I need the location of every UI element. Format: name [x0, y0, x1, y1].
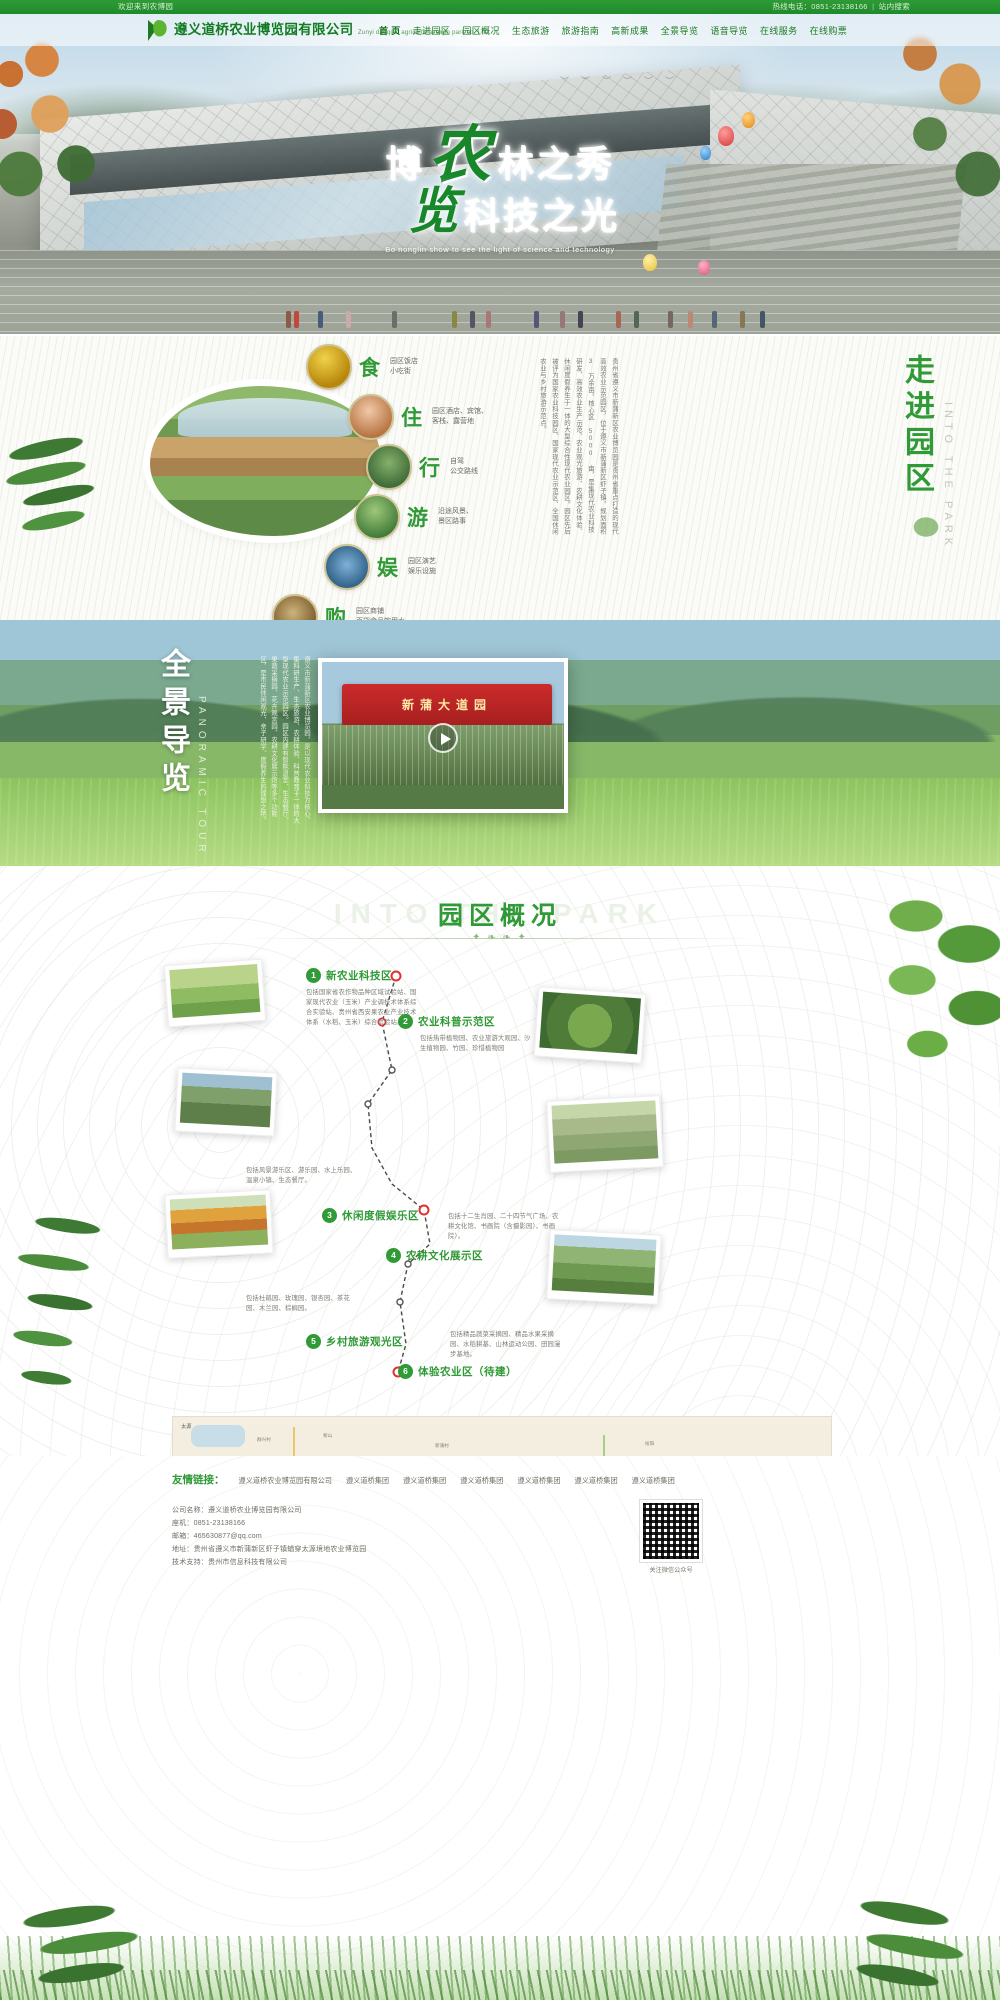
nav-hightech[interactable]: 高新成果	[610, 22, 650, 39]
route-node-3-label: 休闲度假娱乐区	[342, 1208, 419, 1223]
hero-line-1: 博农林之秀	[0, 132, 1000, 188]
service-desc-tour: 沿途风景、 景区路事	[438, 507, 473, 527]
welcome-text: 欢迎来到农博园	[118, 0, 173, 14]
park-gate-sign: 新蒲大道园	[342, 684, 552, 726]
footer-phone: 座机：0851-23138166	[172, 1517, 592, 1530]
map-label: 新蒲村	[435, 1443, 449, 1449]
nav-online-service[interactable]: 在线服务	[759, 22, 799, 39]
route-node-3[interactable]: 3 休闲度假娱乐区	[322, 1208, 419, 1223]
service-item-fun[interactable]: 娱 园区演艺 娱乐设施	[324, 544, 522, 590]
nav-overview[interactable]: 园区概况	[461, 22, 501, 39]
logo-name-cn: 遵义道桥农业博览园有限公司	[174, 22, 353, 37]
route-node-6-blurb: 包括精品蔬菜采摘园、精品水果采摘园、水稻耕基、山林运动公园、田园漫步基地。	[450, 1330, 562, 1360]
photo-image	[170, 1195, 268, 1250]
nav-audio-guide[interactable]: 语音导览	[709, 22, 749, 39]
route-node-4-number: 4	[386, 1248, 401, 1263]
route-node-2-blurb: 包括热带植物园、农业旅游大观园、沙生植物园、竹园、珍惜植物园	[420, 1034, 532, 1054]
hero-l2-b: 科技之光	[463, 196, 619, 236]
hotline-text: 热线电话：0851-23138166	[772, 2, 867, 11]
friend-link-0[interactable]: 遵义道桥农业博览园有限公司	[239, 1476, 332, 1486]
seal-decor-icon	[912, 516, 940, 538]
into-park-title-cn: 走进园区	[894, 354, 938, 498]
friend-link-3[interactable]: 遵义道桥集团	[460, 1476, 503, 1486]
footer-address: 地址：贵州省遵义市新蒲新区虾子镇蝤穿太源境地农业博览园	[172, 1543, 592, 1556]
photo-image	[180, 1073, 272, 1128]
panorama-title-cn: 全景导览	[150, 648, 194, 800]
panoramic-tour-section: 全景导览 PANORAMIC TOUR 遵义市新蒲新区农业博览园，是以现代农业科…	[0, 620, 1000, 870]
panorama-video-frame[interactable]: 新蒲大道园	[318, 658, 568, 813]
route-map: 1 新农业科技区 包括国家省农作物品种区域试验站、国家现代农业（玉米）产业调技术…	[0, 952, 1000, 1422]
route-node-5-label: 乡村旅游观光区	[326, 1334, 403, 1349]
friend-link-6[interactable]: 遵义道桥集团	[632, 1476, 675, 1486]
panorama-title-en: PANORAMIC TOUR	[196, 696, 207, 857]
birds-icon: ︶︶︶︶︶︶	[560, 74, 840, 134]
friend-links-row: 友情链接： 遵义道桥农业博览园有限公司 遵义道桥集团 遵义道桥集团 遵义道桥集团…	[172, 1472, 872, 1487]
nav-links: 首 页 走进园区 园区概况 生态旅游 旅游指南 高新成果 全景导览 语音导览 在…	[378, 14, 848, 46]
route-node-4-blurb: 包括十二生肖园、二十四节气广场、农耕文化馆、书画院（含摄影园）、书画院）。	[448, 1212, 560, 1242]
route-node-3-blurb: 包括风景游乐区、游乐园、水上乐园、温泉小镇、生态餐厅。	[246, 1166, 358, 1186]
map-label: 绥阳	[645, 1441, 654, 1447]
into-park-section: 食 园区饭店 小吃街 住 园区酒店、宾馆、 客栈、露营地 行 自驾 公交路线 游…	[0, 336, 1000, 626]
site-search-link[interactable]: 站内搜索	[879, 2, 910, 11]
service-desc-fun: 园区演艺 娱乐设施	[408, 557, 436, 577]
route-node-5-blurb: 包括杜鹃园、玫瑰园、银杏园、茶花园、木兰园、棕榈园。	[246, 1294, 358, 1314]
panorama-description: 遵义市新蒲新区农业博览园，是以现代农业科技为核心，集科研生产、生态旅游、农耕体验…	[222, 656, 312, 826]
footer-company: 公司名称：遵义道桥农业博览园有限公司	[172, 1504, 592, 1517]
service-char-go: 行	[419, 452, 443, 482]
nav-panorama[interactable]: 全景导览	[660, 22, 700, 39]
entertainment-thumb-icon	[324, 544, 370, 590]
footer-email: 邮箱：465630877@qq.com	[172, 1530, 592, 1543]
route-node-2-number: 2	[398, 1014, 413, 1029]
hero-l2-big: 览	[408, 183, 461, 239]
leaf-logo-icon	[146, 17, 170, 43]
footer-tech: 技术支持：贵州市信息科技有限公司	[172, 1556, 592, 1569]
nav-home[interactable]: 首 页	[378, 22, 402, 39]
route-node-2-label: 农业科普示范区	[418, 1014, 495, 1029]
map-label: 群兴村	[257, 1437, 271, 1443]
wheat-ornament-icon: ✦ ❧ ❧ ✦	[0, 932, 1000, 943]
site-footer: 友情链接： 遵义道桥农业博览园有限公司 遵义道桥集团 遵义道桥集团 遵义道桥集团…	[0, 1456, 1000, 2000]
hotel-room-thumb-icon	[348, 394, 394, 440]
friend-link-1[interactable]: 遵义道桥集团	[346, 1476, 389, 1486]
overview-photo-village[interactable]	[546, 1095, 664, 1173]
hero-l1-b: 林之秀	[498, 144, 615, 184]
overview-photo-agave[interactable]	[534, 986, 647, 1063]
into-park-description: 贵州省遵义市新蒲新区农业博览园是贵州省重点打造的现代高效农业示范园区，位于遵义市…	[470, 358, 620, 538]
overview-photo-road[interactable]	[174, 1067, 277, 1136]
route-node-5[interactable]: 5 乡村旅游观光区	[306, 1334, 403, 1349]
route-node-1[interactable]: 1 新农业科技区	[306, 968, 392, 983]
route-node-4[interactable]: 4 农耕文化展示区	[386, 1248, 483, 1263]
hero-subtitle-en: Bo nonglin show to see the light of scie…	[0, 245, 1000, 254]
map-label: 黎山	[323, 1433, 332, 1439]
route-node-4-label: 农耕文化展示区	[406, 1248, 483, 1263]
service-desc-eat: 园区饭店 小吃街	[390, 357, 418, 377]
overview-photo-flower[interactable]	[164, 1189, 273, 1258]
scenery-thumb-icon	[354, 494, 400, 540]
nav-buy-ticket[interactable]: 在线购票	[809, 22, 849, 39]
qr-caption: 关注微信公众号	[640, 1565, 702, 1574]
main-navigation-bar: 遵义道桥农业博览园有限公司 Zunyi daoqiao agricultural…	[0, 14, 1000, 46]
photo-image	[539, 992, 641, 1055]
footer-contact-block: 公司名称：遵义道桥农业博览园有限公司 座机：0851-23138166 邮箱：4…	[172, 1504, 592, 1569]
hero-l1-a: 博	[385, 144, 424, 184]
nav-into-park[interactable]: 走进园区	[412, 22, 452, 39]
nav-travel-guide[interactable]: 旅游指南	[561, 22, 601, 39]
photo-image	[169, 964, 260, 1018]
service-char-eat: 食	[359, 352, 383, 382]
friend-link-4[interactable]: 遵义道桥集团	[517, 1476, 560, 1486]
service-char-stay: 住	[401, 402, 425, 432]
road-thumb-icon	[366, 444, 412, 490]
photo-image	[551, 1100, 658, 1163]
balloon-icon	[742, 112, 755, 128]
into-park-title-en: INTO THE PARK	[942, 402, 954, 550]
friend-link-2[interactable]: 遵义道桥集团	[403, 1476, 446, 1486]
friend-links-title: 友情链接：	[172, 1472, 225, 1487]
service-char-fun: 娱	[377, 552, 401, 582]
top-utility-bar: 欢迎来到农博园 热线电话：0851-23138166 | 站内搜索	[0, 0, 1000, 14]
route-node-6[interactable]: 6 体验农业区（待建）	[398, 1364, 517, 1379]
route-node-2[interactable]: 2 农业科普示范区	[398, 1014, 495, 1029]
qr-code-icon	[640, 1500, 702, 1562]
overview-photo-rice[interactable]	[164, 959, 266, 1028]
hero-banner: ︶︶︶︶︶︶ 博农林之秀 览科技之光 Bo nonglin show to se…	[0, 14, 1000, 334]
restaurant-thumb-icon	[306, 344, 352, 390]
route-node-1-label: 新农业科技区	[326, 968, 392, 983]
route-node-6-number: 6	[398, 1364, 413, 1379]
separator: |	[872, 2, 874, 11]
hero-line-2: 览科技之光	[26, 188, 1000, 239]
map-water	[191, 1425, 245, 1447]
hotline-block: 热线电话：0851-23138166 | 站内搜索	[772, 0, 910, 14]
nav-eco-tourism[interactable]: 生态旅游	[511, 22, 551, 39]
plaza-visitors	[0, 264, 1000, 334]
gate-sign-text: 新蒲大道园	[342, 684, 552, 726]
photo-image	[552, 1234, 657, 1295]
overview-photo-farm[interactable]	[546, 1229, 662, 1305]
route-node-3-number: 3	[322, 1208, 337, 1223]
route-node-1-number: 1	[306, 968, 321, 983]
friend-link-5[interactable]: 遵义道桥集团	[575, 1476, 618, 1486]
service-char-tour: 游	[407, 502, 431, 532]
route-node-5-number: 5	[306, 1334, 321, 1349]
hero-headline: 博农林之秀 览科技之光 Bo nonglin show to see the l…	[0, 132, 1000, 254]
hero-l1-big: 农	[428, 122, 493, 190]
map-label: 太源	[181, 1423, 191, 1430]
wechat-qr-block: 关注微信公众号	[640, 1500, 702, 1574]
overview-title: 园区概况	[0, 896, 1000, 932]
page-root: 欢迎来到农博园 热线电话：0851-23138166 | 站内搜索 ︶︶︶︶︶︶	[0, 0, 1000, 2000]
route-node-6-label: 体验农业区（待建）	[418, 1364, 517, 1379]
